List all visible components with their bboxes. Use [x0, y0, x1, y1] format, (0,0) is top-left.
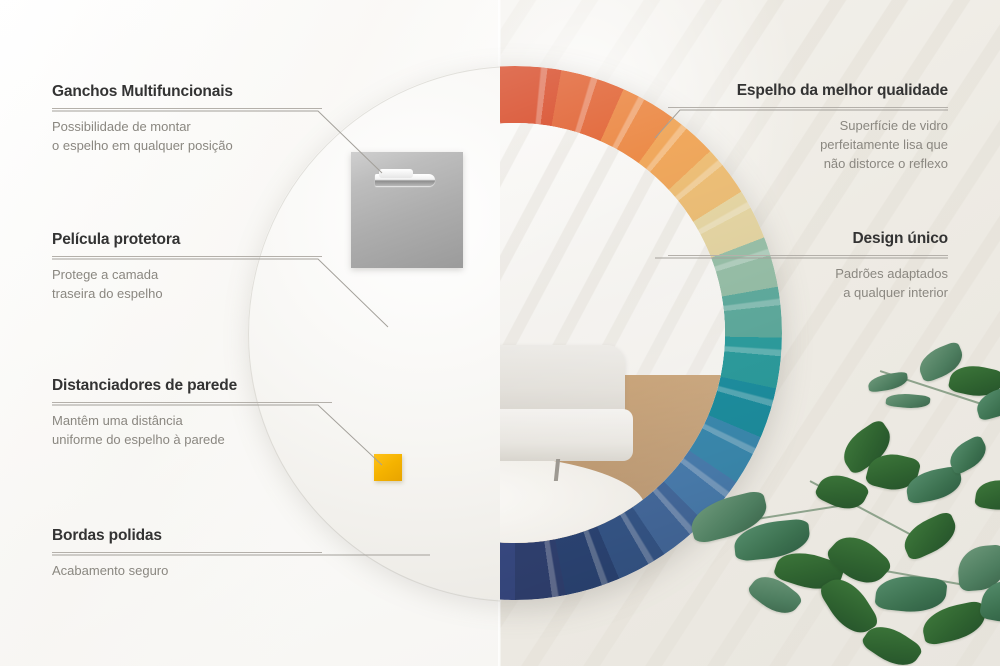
leaf — [885, 392, 930, 411]
hook-slot-icon — [375, 174, 435, 186]
callout-description: Mantêm uma distância uniforme do espelho… — [52, 412, 332, 450]
callout-title: Película protetora — [52, 231, 322, 248]
callout-title: Distanciadores de parede — [52, 377, 332, 394]
leaf — [898, 510, 962, 562]
callout-title: Design único — [668, 230, 948, 247]
callout-description: Superfície de vidro perfeitamente lisa q… — [668, 117, 948, 174]
callout-description: Protege a camada traseira do espelho — [52, 266, 322, 304]
callout-polished-edges: Bordas polidas Acabamento seguro — [52, 527, 322, 581]
hanging-hook-plate — [351, 152, 463, 268]
callout-rule — [668, 107, 948, 108]
callout-rule — [52, 552, 322, 553]
callout-title: Espelho da melhor qualidade — [668, 82, 948, 99]
leaf — [867, 371, 909, 392]
callout-hooks: Ganchos Multifuncionais Possibilidade de… — [52, 83, 322, 156]
callout-wall-spacers: Distanciadores de parede Mantêm uma dist… — [52, 377, 332, 450]
callout-rule — [52, 108, 322, 109]
callout-description: Padrões adaptados a qualquer interior — [668, 265, 948, 303]
foliage-decoration — [690, 330, 1000, 666]
leaf — [874, 572, 947, 615]
infographic-canvas: Ganchos Multifuncionais Possibilidade de… — [0, 0, 1000, 666]
callout-rule — [52, 256, 322, 257]
callout-description: Acabamento seguro — [52, 562, 322, 581]
callout-rule — [668, 255, 948, 256]
callout-rule — [52, 402, 332, 403]
callout-protective-film: Película protetora Protege a camada tras… — [52, 231, 322, 304]
callout-unique-design: Design único Padrões adaptados a qualque… — [668, 230, 948, 303]
callout-title: Ganchos Multifuncionais — [52, 83, 322, 100]
wall-spacer — [374, 454, 402, 481]
callout-best-quality-mirror: Espelho da melhor qualidade Superfície d… — [668, 82, 948, 174]
leaf — [974, 477, 1000, 513]
callout-description: Possibilidade de montar o espelho em qua… — [52, 118, 322, 156]
callout-title: Bordas polidas — [52, 527, 322, 544]
